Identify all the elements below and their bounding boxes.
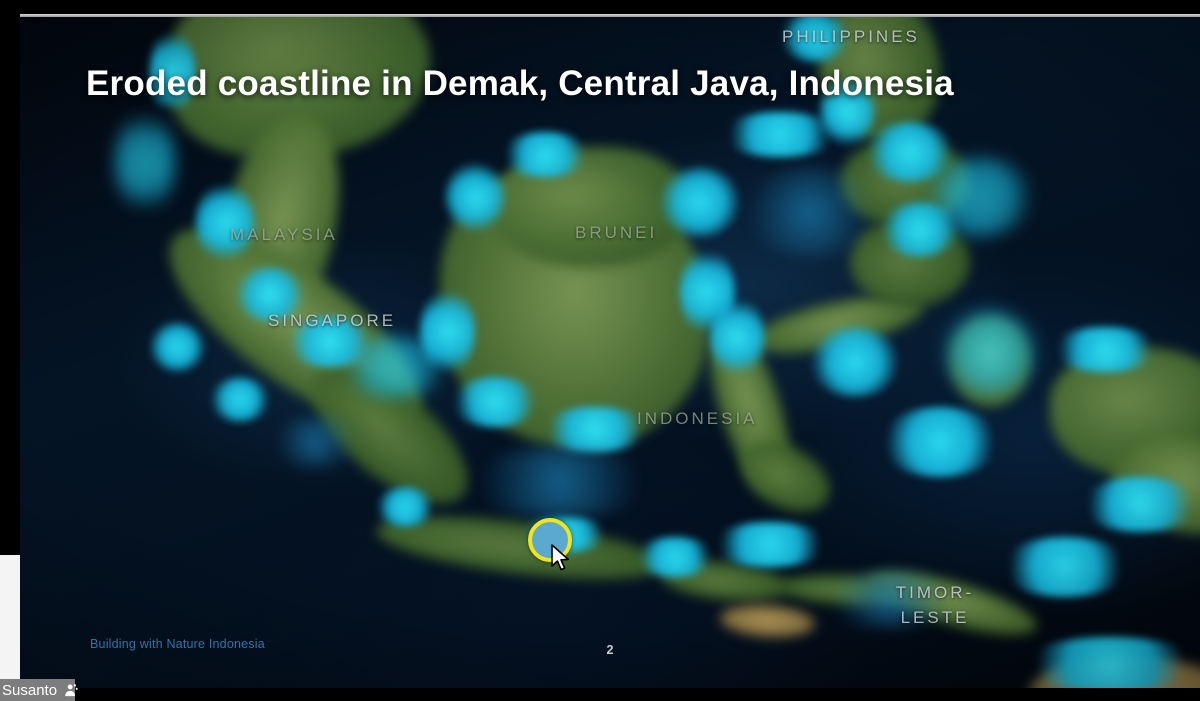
- map-label-singapore: SINGAPORE: [268, 311, 396, 331]
- map-label-malaysia: MALAYSIA: [230, 225, 338, 245]
- left-edge-panel: [0, 555, 20, 679]
- map-label-brunei: BRUNEI: [575, 223, 657, 243]
- slide-page-number: 2: [20, 643, 1200, 657]
- map-label-timor-leste: TIMOR-LESTE: [880, 580, 990, 630]
- bottom-chrome-bar: [0, 688, 1200, 701]
- presentation-slide[interactable]: PHILIPPINES BRUNEI MALAYSIA SINGAPORE IN…: [20, 17, 1200, 688]
- map-label-timor-leste-text: TIMOR-LESTE: [896, 583, 974, 627]
- presenter-name-text: Susanto: [2, 682, 57, 699]
- screen-share-window: PHILIPPINES BRUNEI MALAYSIA SINGAPORE IN…: [0, 0, 1200, 701]
- presenter-name-label[interactable]: Susanto: [2, 679, 77, 701]
- map-vignette: [20, 17, 1200, 688]
- top-chrome-bar: [0, 0, 1200, 14]
- map-label-philippines: PHILIPPINES: [782, 27, 920, 47]
- demak-location-marker[interactable]: [528, 518, 572, 562]
- map-label-indonesia: INDONESIA: [637, 409, 758, 429]
- slide-title: Eroded coastline in Demak, Central Java,…: [86, 64, 1126, 104]
- person-speaking-icon: [63, 683, 77, 697]
